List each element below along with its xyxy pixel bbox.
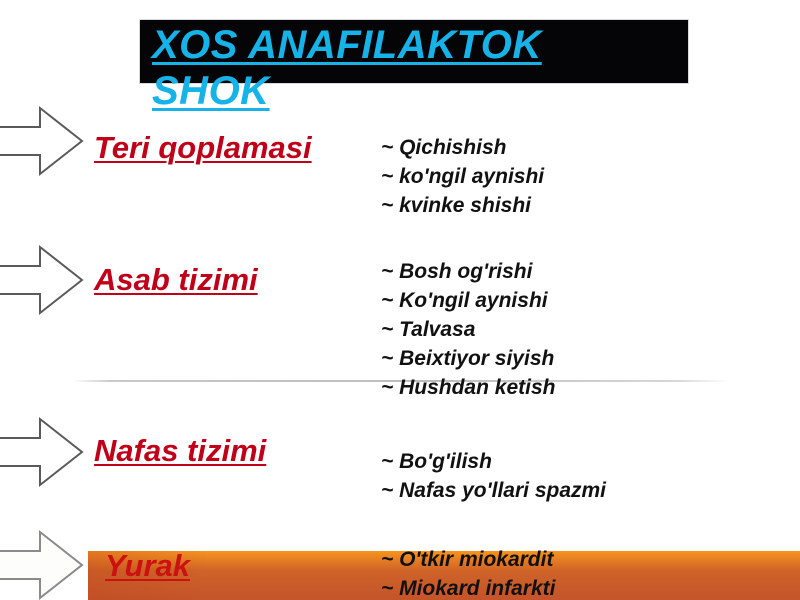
right-arrow-icon (0, 243, 86, 317)
list-item: ~ Nafas yo'llari spazmi (381, 476, 606, 505)
section-heading-yurak: Yurak (105, 548, 190, 584)
section-heading-asab-tizimi: Asab tizimi (94, 262, 258, 298)
right-arrow-icon (0, 104, 86, 178)
list-item: ~ Bosh og'rishi (381, 257, 555, 286)
slide-canvas: XOS ANAFILAKTOK SHOK Teri qoplamasi ~ Qi… (0, 0, 800, 600)
list-item: ~ Miokard infarkti (381, 574, 555, 600)
symptom-list-teri-qoplamasi: ~ Qichishish ~ ko'ngil aynishi ~ kvinke … (381, 133, 544, 220)
right-arrow-icon (0, 415, 86, 489)
symptom-list-nafas-tizimi: ~ Bo'g'ilish ~ Nafas yo'llari spazmi (381, 447, 606, 505)
list-item: ~ Qichishish (381, 133, 544, 162)
section-heading-teri-qoplamasi: Teri qoplamasi (94, 130, 312, 166)
list-item: ~ Talvasa (381, 315, 555, 344)
symptom-list-yurak: ~ O'tkir miokardit ~ Miokard infarkti (381, 545, 555, 600)
symptom-list-asab-tizimi: ~ Bosh og'rishi ~ Ko'ngil aynishi ~ Talv… (381, 257, 555, 402)
list-item: ~ O'tkir miokardit (381, 545, 555, 574)
list-item: ~ ko'ngil aynishi (381, 162, 544, 191)
list-item: ~ Ko'ngil aynishi (381, 286, 555, 315)
list-item: ~ Beixtiyor siyish (381, 344, 555, 373)
list-item: ~ kvinke shishi (381, 191, 544, 220)
section-heading-nafas-tizimi: Nafas tizimi (94, 433, 266, 469)
page-title: XOS ANAFILAKTOK SHOK (152, 22, 632, 114)
list-item: ~ Bo'g'ilish (381, 447, 606, 476)
list-item: ~ Hushdan ketish (381, 373, 555, 402)
right-arrow-icon (0, 528, 86, 600)
